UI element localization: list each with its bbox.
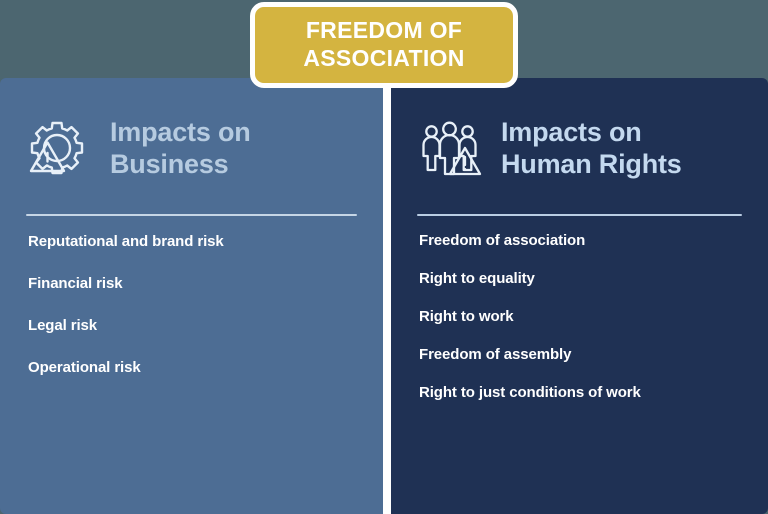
right-panel-divider — [417, 214, 742, 216]
left-panel-title-line2: Business — [110, 149, 228, 179]
list-item: Operational risk — [28, 359, 357, 376]
list-item: Freedom of assembly — [419, 346, 742, 363]
list-item: Legal risk — [28, 317, 357, 334]
list-item: Freedom of association — [419, 232, 742, 249]
list-item: Right to just conditions of work — [419, 384, 742, 401]
list-item: Right to work — [419, 308, 742, 325]
title-badge-text: FREEDOM OF ASSOCIATION — [289, 17, 478, 72]
list-item: Financial risk — [28, 275, 357, 292]
left-panel-header: Impacts on Business — [26, 106, 357, 192]
left-panel-divider — [26, 214, 357, 216]
left-panel-title-line1: Impacts on — [110, 117, 251, 147]
left-panel-title: Impacts on Business — [110, 117, 251, 181]
right-panel-title-line1: Impacts on — [501, 117, 642, 147]
title-badge-line1: FREEDOM OF — [306, 17, 462, 43]
panels-container: Impacts on Business Reputational and bra… — [0, 78, 768, 514]
infographic-root: Impacts on Business Reputational and bra… — [0, 0, 768, 514]
title-badge-line2: ASSOCIATION — [303, 45, 464, 71]
panel-divider — [383, 78, 391, 514]
people-warning-icon — [417, 116, 483, 182]
panel-impacts-on-human-rights: Impacts on Human Rights Freedom of assoc… — [391, 78, 768, 514]
right-panel-title-line2: Human Rights — [501, 149, 682, 179]
list-item: Right to equality — [419, 270, 742, 287]
right-panel-title: Impacts on Human Rights — [501, 117, 682, 181]
right-panel-header: Impacts on Human Rights — [417, 106, 742, 192]
title-badge: FREEDOM OF ASSOCIATION — [250, 2, 518, 88]
left-panel-list: Reputational and brand risk Financial ri… — [26, 233, 357, 376]
list-item: Reputational and brand risk — [28, 233, 357, 250]
gear-warning-icon — [26, 116, 92, 182]
panel-impacts-on-business: Impacts on Business Reputational and bra… — [0, 78, 383, 514]
right-panel-list: Freedom of association Right to equality… — [417, 232, 742, 401]
